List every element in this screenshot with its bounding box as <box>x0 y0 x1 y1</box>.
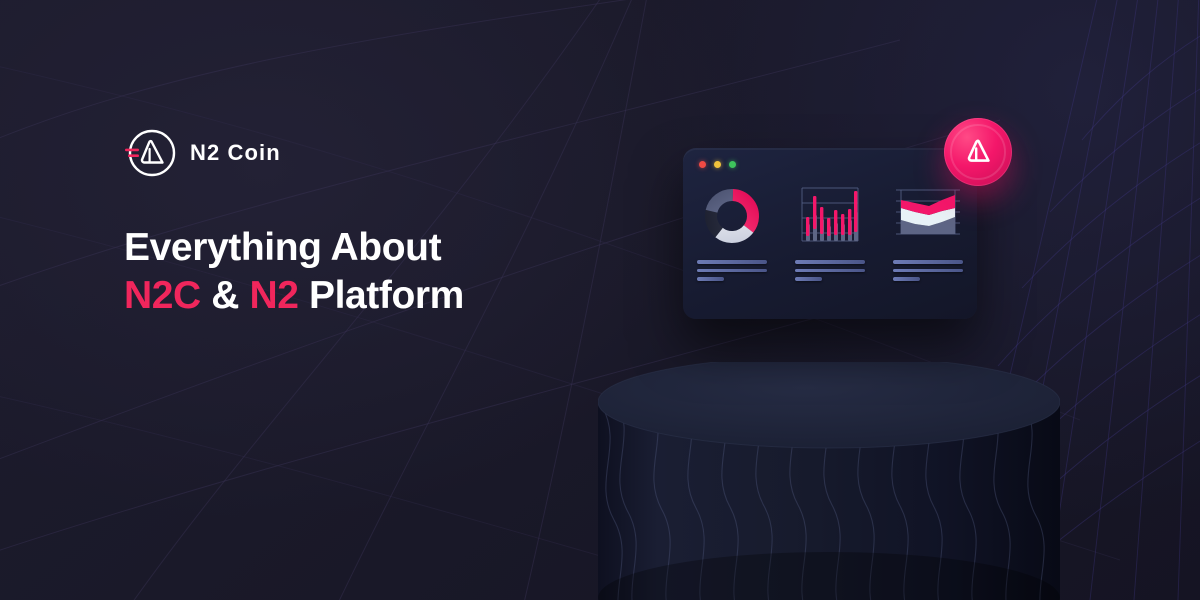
donut-chart <box>699 182 765 250</box>
bar-chart <box>798 182 862 250</box>
coin-badge <box>944 118 1012 186</box>
brand-logo-lockup[interactable]: N2 Coin <box>124 127 281 179</box>
pedestal-svg <box>598 362 1060 600</box>
headline-platform: Platform <box>299 274 464 317</box>
area-panel <box>887 182 969 281</box>
headline-line-2: N2C & N2 Platform <box>124 272 684 320</box>
headline-accent-n2: N2 <box>249 274 298 317</box>
headline-line-1: Everything About <box>124 224 684 272</box>
donut-panel <box>691 182 773 281</box>
area-skeleton-lines <box>893 260 963 281</box>
bar-panel <box>789 182 871 281</box>
display-pedestal <box>598 362 1060 600</box>
headline-ampersand: & <box>201 274 250 317</box>
bar-skeleton-lines <box>795 260 865 281</box>
brand-name: N2 Coin <box>190 140 281 166</box>
donut-skeleton-lines <box>697 260 767 281</box>
dashboard-card <box>683 148 977 319</box>
window-traffic-lights <box>699 161 736 168</box>
headline-accent-n2c: N2C <box>124 274 201 317</box>
window-close-dot[interactable] <box>699 161 706 168</box>
window-maximize-dot[interactable] <box>729 161 736 168</box>
n2-coin-triangle-logo-icon <box>963 137 993 167</box>
n2-coin-triangle-logo-icon <box>124 127 176 179</box>
area-chart <box>893 182 963 250</box>
window-minimize-dot[interactable] <box>714 161 721 168</box>
page-title: Everything About N2C & N2 Platform <box>124 224 684 319</box>
